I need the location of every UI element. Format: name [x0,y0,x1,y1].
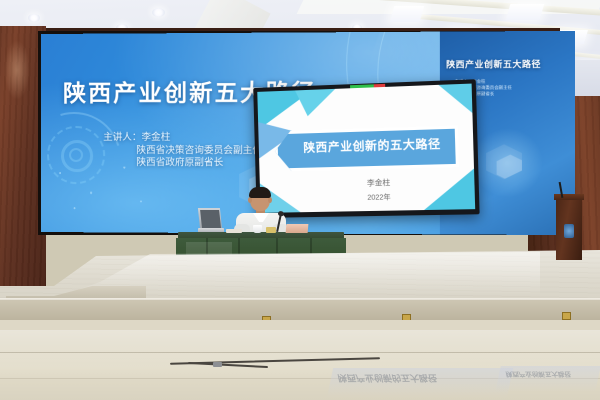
ceiling-downlight [152,8,165,17]
slide-year-text: 2022年 [322,191,436,203]
wooden-lectern [556,198,582,260]
wall-light-reflection [4,40,30,100]
slide-triangle-decor [429,84,475,119]
floor-reflection-text-right: 陕西产业创新五大路径 [505,370,572,380]
lectern-emblem [564,224,574,238]
desk-item [266,227,276,233]
conference-hall-scene: 陕西产业创新五大路径 主讲人：李金柱 陕西省决策咨询委员会副主任 陕西省政府原副… [0,0,600,400]
ceiling-panel-light [390,6,425,22]
speaker-hair [249,187,271,198]
monitor-screen: 陕西产业创新的五大路径 李金柱 2022年 [257,84,475,213]
ceiling-downlight [28,14,40,22]
right-led-title: 陕西产业创新五大路径 [446,58,573,71]
slide-title-text: 陕西产业创新的五大路径 [288,131,456,160]
floor-reflection-text-left: 陕西产业创新的五大路径 [337,372,439,385]
drinking-cup [253,225,262,233]
laptop-screen [198,208,222,229]
slide-author-text: 李金柱 [322,176,436,190]
desk-paper [226,229,242,233]
floor-connector-box [213,362,222,367]
ceiling-panel-light [506,4,545,20]
led-speaker-label: 主讲人： [103,132,141,143]
presenter-monitor[interactable]: 陕西产业创新的五大路径 李金柱 2022年 [253,79,479,218]
name-plate [286,224,309,233]
lectern-top-surface [554,194,584,200]
slide-triangle-decor [412,163,475,213]
led-speaker-name: 李金柱 [142,132,171,143]
stage-floor-outlet [562,312,571,320]
slide-triangle-decor [291,84,345,117]
